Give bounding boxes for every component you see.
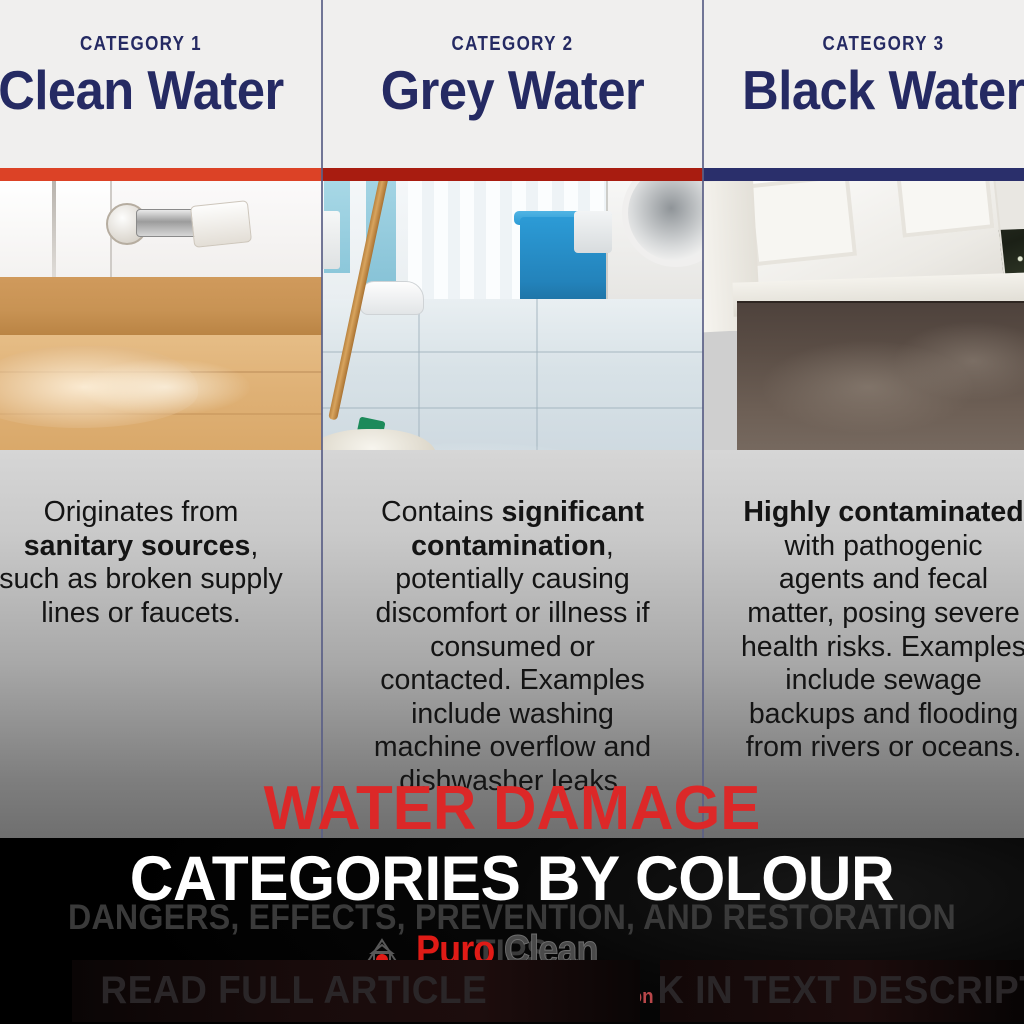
category-title-1: Clean Water <box>0 62 308 120</box>
link-in-description-label: LINK IN TEXT DESCRIPTION <box>660 969 1024 1013</box>
category-photo-1 <box>0 181 322 450</box>
column-header-1: CATEGORY 1 Clean Water <box>0 0 322 168</box>
column-divider-2 <box>702 0 704 838</box>
read-full-article-button[interactable]: READ FULL ARTICLE <box>72 960 640 1022</box>
read-full-article-label: READ FULL ARTICLE <box>101 969 611 1013</box>
category-title-3: Black Water <box>717 62 1024 120</box>
overlay-headline-red: WATER DAMAGE <box>15 778 1008 840</box>
category-color-bar-2 <box>322 168 703 181</box>
column-divider-1 <box>321 0 323 838</box>
infographic-canvas: CATEGORY 1 Clean Water Originates fromsa… <box>0 0 1024 1024</box>
category-label-1: CATEGORY 1 <box>0 34 295 54</box>
category-label-2: CATEGORY 2 <box>351 34 675 54</box>
link-in-description-button[interactable]: LINK IN TEXT DESCRIPTION <box>660 960 1024 1022</box>
column-header-3: CATEGORY 3 Black Water <box>703 0 1024 168</box>
category-description-3: Highly contaminatedwith pathogenicagents… <box>703 450 1024 765</box>
category-photo-3 <box>703 181 1024 450</box>
category-photo-2 <box>322 181 703 450</box>
category-description-2: Contains significantcontamination,potent… <box>322 450 703 799</box>
category-color-bar-3 <box>703 168 1024 181</box>
category-label-3: CATEGORY 3 <box>730 34 1024 54</box>
category-color-bar-1 <box>0 168 322 181</box>
category-description-1: Originates fromsanitary sources,such as … <box>0 450 322 631</box>
category-title-2: Grey Water <box>337 62 688 120</box>
column-header-2: CATEGORY 2 Grey Water <box>322 0 703 168</box>
